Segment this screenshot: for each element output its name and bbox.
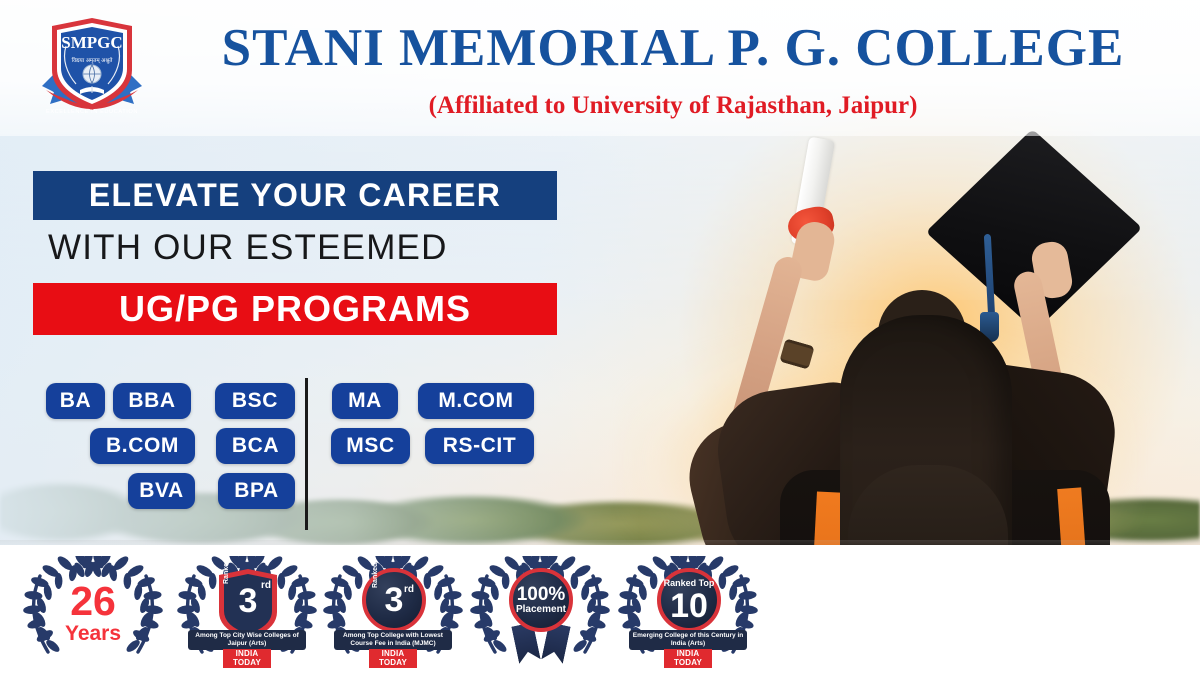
rank-circle-seal: Ranked 3 rd [362, 568, 426, 632]
rank-word: Ranked [223, 559, 230, 584]
rank-description: Emerging College of this Century in Indi… [629, 630, 747, 650]
india-today-brand: INDIATODAY [664, 649, 712, 668]
program-pill-ba[interactable]: BA [46, 383, 105, 419]
rank-seal: Ranked Top10 [657, 568, 721, 632]
program-pill-msc[interactable]: MSC [331, 428, 410, 464]
rank-description: Among Top City Wise Colleges of Jaipur (… [188, 630, 306, 650]
program-pill-bsc[interactable]: BSC [215, 383, 295, 419]
badge-years: 26Years [18, 556, 168, 668]
program-pill-bca[interactable]: BCA [216, 428, 295, 464]
brand-line-2: TODAY [233, 658, 261, 667]
logo-hindi-motto: विद्यया अमृतम् अश्नुते [72, 57, 114, 64]
placement-label: Placement [516, 604, 566, 616]
program-pill-bva[interactable]: BVA [128, 473, 195, 509]
rank-description: Among Top College with Lowest Course Fee… [334, 630, 452, 650]
rank-number: 3 [385, 583, 404, 617]
rank-suffix: rd [261, 580, 271, 591]
rank-word: Ranked [372, 563, 379, 588]
promo-poster: SMPGC विद्यया अमृतम् अश्नुते EXCELLENCE … [0, 0, 1200, 675]
badge-years-number: 26 [56, 580, 130, 622]
program-pill-b-com[interactable]: B.COM [90, 428, 195, 464]
wristwatch [779, 338, 814, 369]
rank-number: 10 [670, 589, 708, 623]
headline-line-2: WITH OUR ESTEEMED [48, 226, 548, 270]
headline-line-3: UG/PG PROGRAMS [33, 283, 557, 335]
poster-header: SMPGC विद्यया अमृतम् अश्नुते EXCELLENCE … [0, 0, 1200, 136]
india-today-brand: INDIATODAY [369, 649, 417, 668]
program-pill-m-com[interactable]: M.COM [418, 383, 534, 419]
logo-ribbon-text: EXCELLENCE IN EDUCATION [46, 109, 138, 115]
program-divider [305, 378, 308, 530]
badge-placement: 100%Placement [465, 556, 615, 668]
program-pill-rs-cit[interactable]: RS-CIT [425, 428, 534, 464]
badge-circle-rank: Ranked 3 rdAmong Top College with Lowest… [318, 556, 468, 668]
program-pill-bba[interactable]: BBA [113, 383, 191, 419]
india-today-brand: INDIATODAY [223, 649, 271, 668]
placement-percent: 100% [517, 585, 566, 604]
badge-shield-rank: Ranked 3 rdAmong Top City Wise Colleges … [172, 556, 322, 668]
headline-line-1: ELEVATE YOUR CAREER [33, 171, 557, 220]
badge-years-label: Years [56, 622, 130, 646]
logo-acronym: SMPGC [61, 33, 122, 52]
college-logo: SMPGC विद्यया अमृतम् अश्नुते EXCELLENCE … [36, 12, 148, 128]
program-pill-bpa[interactable]: BPA [218, 473, 295, 509]
program-pill-ma[interactable]: MA [332, 383, 398, 419]
college-affiliation: (Affiliated to University of Rajasthan, … [168, 92, 1178, 120]
badge-top-ten: Ranked Top10Emerging College of this Cen… [613, 556, 763, 668]
brand-line-2: TODAY [674, 658, 702, 667]
brand-line-2: TODAY [379, 658, 407, 667]
placement-seal: 100%Placement [509, 568, 573, 632]
rank-suffix: rd [404, 584, 414, 595]
college-title: STANI MEMORIAL P. G. COLLEGE [168, 18, 1178, 78]
